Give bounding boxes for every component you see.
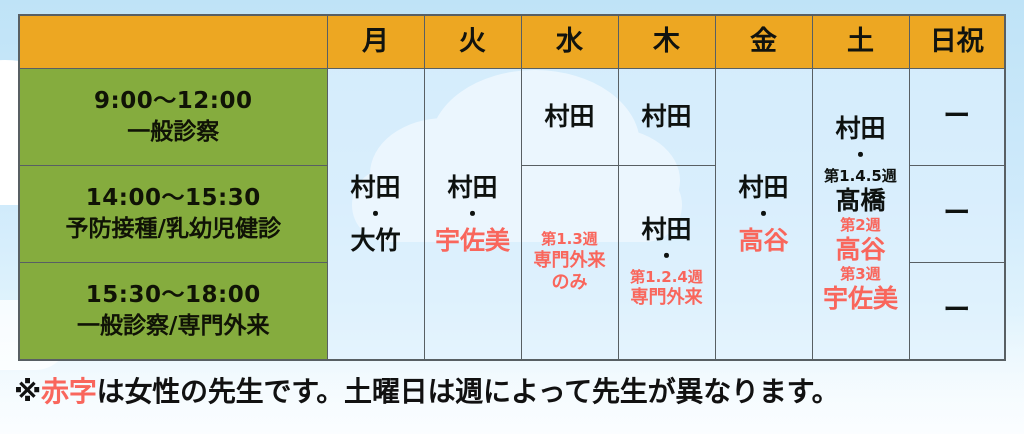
- doctor-name-female: 宇佐美: [813, 284, 909, 314]
- clinic-schedule-table: 月 火 水 木 金 土 日祝 9:00〜12:00 一般診察 村田 ・: [18, 14, 1006, 361]
- cell-tue-all: 村田 ・ 宇佐美: [424, 69, 521, 361]
- time-slot-morning: 9:00〜12:00 一般診察: [19, 69, 327, 166]
- time-slot-evening: 15:30〜18:00 一般診察/専門外来: [19, 263, 327, 361]
- schedule-sheet: 月 火 水 木 金 土 日祝 9:00〜12:00 一般診察 村田 ・: [0, 0, 1024, 361]
- footnote-text: は女性の先生です。土曜日は週によって先生が異なります。: [97, 375, 840, 408]
- footnote-mark: ※: [14, 375, 41, 408]
- header-corner-cell: [19, 15, 327, 69]
- time-slot-time: 9:00〜12:00: [20, 88, 327, 115]
- name-separator: ・: [425, 204, 521, 225]
- doctor-name: 村田: [522, 102, 618, 132]
- closed-dash: ー: [943, 101, 970, 132]
- time-slot-time: 14:00〜15:30: [20, 185, 327, 212]
- header-day-wed: 水: [521, 15, 618, 69]
- service-note-extra: のみ: [522, 272, 618, 295]
- doctor-name-female: 高谷: [716, 226, 812, 256]
- doctor-name-female: 高谷: [813, 235, 909, 265]
- cell-sun-row1: ー: [909, 69, 1005, 166]
- footnote-red-term: 赤字: [41, 375, 97, 408]
- time-slot-service: 一般診察/専門外来: [20, 313, 327, 340]
- doctor-name: 村田: [619, 215, 715, 245]
- week-note: 第3週: [813, 265, 909, 285]
- doctor-name: 村田: [425, 173, 521, 203]
- service-note: 専門外来: [619, 287, 715, 310]
- doctor-name-female: 宇佐美: [425, 226, 521, 256]
- time-slot-time: 15:30〜18:00: [20, 282, 327, 309]
- cell-wed-rows23: 第1.3週 専門外来 のみ: [521, 166, 618, 361]
- cell-fri-all: 村田 ・ 高谷: [715, 69, 812, 361]
- doctor-name: 大竹: [328, 226, 424, 256]
- cell-sun-row2: ー: [909, 166, 1005, 263]
- doctor-name: 髙橋: [813, 186, 909, 216]
- time-slot-vaccination: 14:00〜15:30 予防接種/乳幼児健診: [19, 166, 327, 263]
- week-note: 第2週: [813, 216, 909, 236]
- footnote: ※赤字は女性の先生です。土曜日は週によって先生が異なります。: [0, 370, 1024, 410]
- cell-thu-rows23: 村田 ・ 第1.2.4週 専門外来: [618, 166, 715, 361]
- table-header-row: 月 火 水 木 金 土 日祝: [19, 15, 1005, 69]
- service-note: 専門外来: [522, 250, 618, 273]
- time-slot-service: 一般診察: [20, 119, 327, 146]
- name-separator: ・: [716, 204, 812, 225]
- header-day-mon: 月: [327, 15, 424, 69]
- name-separator: ・: [328, 204, 424, 225]
- header-day-fri: 金: [715, 15, 812, 69]
- header-day-sat: 土: [812, 15, 909, 69]
- doctor-name: 村田: [619, 102, 715, 132]
- week-note: 第1.3週: [522, 230, 618, 250]
- header-day-thu: 木: [618, 15, 715, 69]
- doctor-name: 村田: [813, 114, 909, 144]
- header-day-sun: 日祝: [909, 15, 1005, 69]
- week-note: 第1.4.5週: [813, 167, 909, 187]
- name-separator: ・: [619, 246, 715, 267]
- cell-mon-all: 村田 ・ 大竹: [327, 69, 424, 361]
- closed-dash: ー: [943, 198, 970, 229]
- header-day-tue: 火: [424, 15, 521, 69]
- cell-sat-all: 村田 ・ 第1.4.5週 髙橋 第2週 高谷 第3週 宇佐美: [812, 69, 909, 361]
- cell-sun-row3: ー: [909, 263, 1005, 361]
- cell-wed-row1: 村田: [521, 69, 618, 166]
- name-separator: ・: [813, 145, 909, 166]
- closed-dash: ー: [943, 295, 970, 326]
- week-note: 第1.2.4週: [619, 268, 715, 288]
- table-row: 9:00〜12:00 一般診察 村田 ・ 大竹 村田 ・ 宇佐美 村田: [19, 69, 1005, 166]
- time-slot-service: 予防接種/乳幼児健診: [20, 216, 327, 243]
- doctor-name: 村田: [716, 173, 812, 203]
- doctor-name: 村田: [328, 173, 424, 203]
- cell-thu-row1: 村田: [618, 69, 715, 166]
